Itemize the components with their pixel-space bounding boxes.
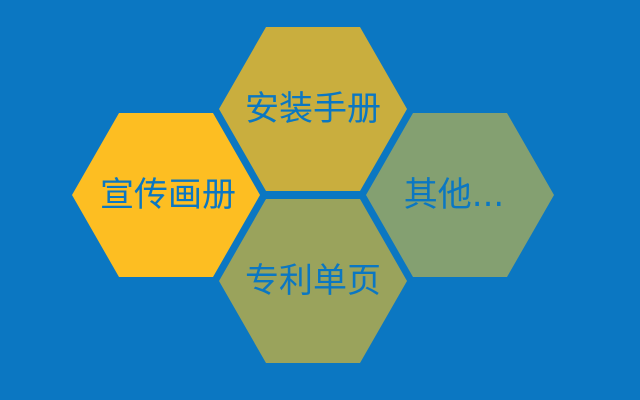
hexagon-diagram-canvas: 宣传画册 安装手册 专利单页 其他... xyxy=(0,0,640,400)
hexagon-node-patent[interactable]: 专利单页 xyxy=(219,199,407,363)
hexagon-node-other[interactable]: 其他... xyxy=(366,113,554,277)
hexagon-label-manual: 安装手册 xyxy=(245,92,381,126)
hexagon-label-other: 其他... xyxy=(404,178,504,212)
hexagon-node-brochure[interactable]: 宣传画册 xyxy=(72,113,260,277)
hexagon-label-brochure: 宣传画册 xyxy=(100,178,236,212)
hexagon-node-manual[interactable]: 安装手册 xyxy=(219,27,407,191)
hexagon-label-patent: 专利单页 xyxy=(245,264,381,298)
